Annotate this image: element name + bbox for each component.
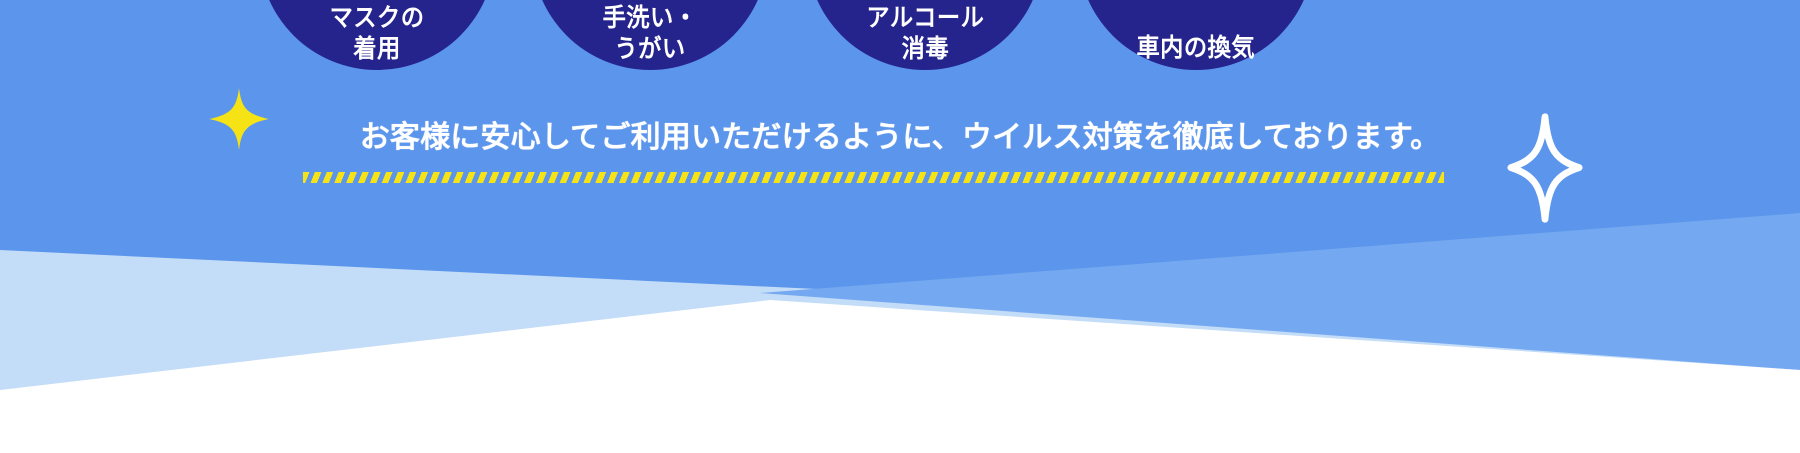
- measure-circle-handwash[interactable]: 手洗い・ うがい: [532, 0, 768, 70]
- measure-label-handwash: 手洗い・ うがい: [603, 3, 698, 64]
- measure-label-alcohol: アルコール 消毒: [866, 3, 984, 64]
- headline-text: お客様に安心してご利用いただけるように、ウイルス対策を徹底しております。: [0, 118, 1800, 159]
- measure-circle-alcohol[interactable]: アルコール 消毒: [807, 0, 1043, 70]
- headline-block: お客様に安心してご利用いただけるように、ウイルス対策を徹底しております。: [0, 118, 1800, 159]
- measure-circle-mask[interactable]: マスクの 着用: [259, 0, 495, 70]
- striped-underline: [303, 172, 1444, 183]
- measure-label-mask: マスクの 着用: [330, 3, 425, 64]
- measure-circle-ventilation[interactable]: 車内の換気: [1078, 0, 1314, 70]
- measures-circle-row: マスクの 着用 手洗い・ うがい アルコール 消毒 車内の換気: [0, 0, 1800, 80]
- virus-measures-banner: マスクの 着用 手洗い・ うがい アルコール 消毒 車内の換気 お客様に安心して…: [0, 0, 1800, 453]
- measure-label-ventilation: 車内の換気: [1137, 33, 1256, 65]
